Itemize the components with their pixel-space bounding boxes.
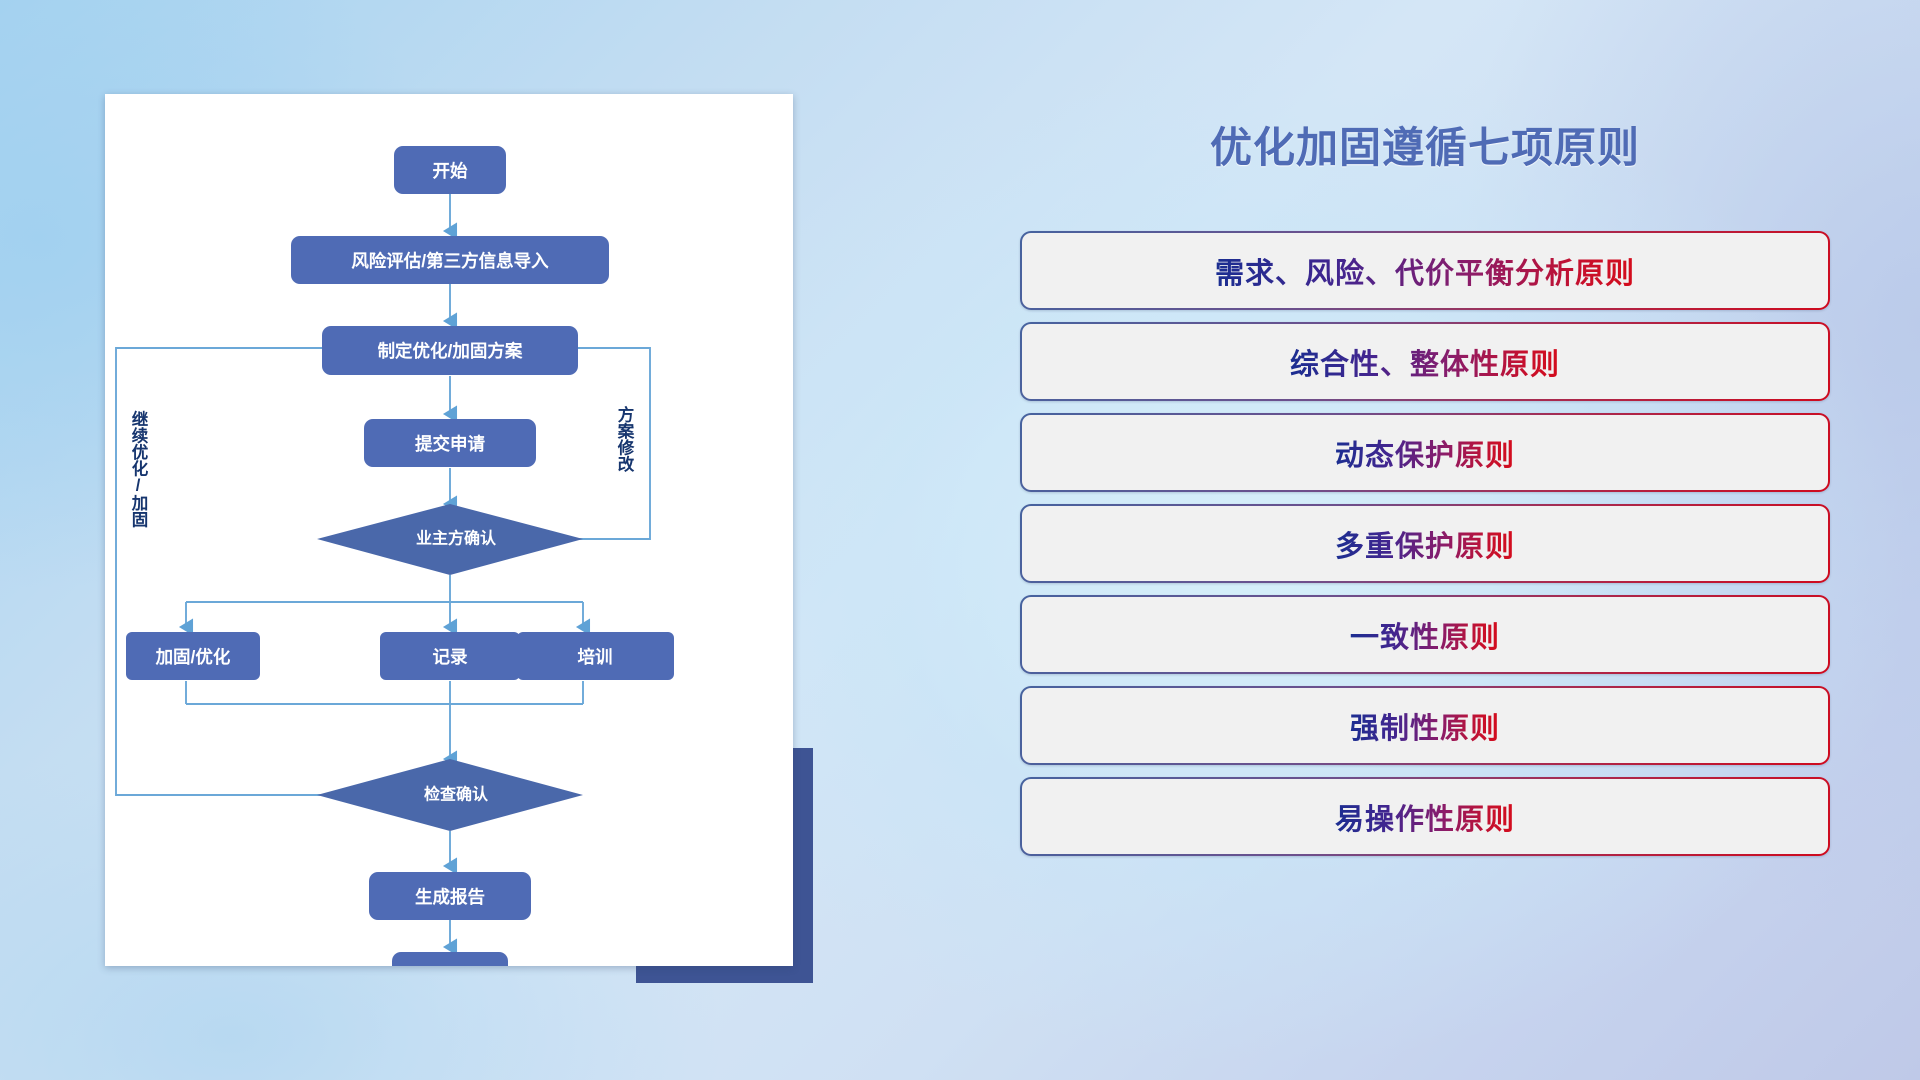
principle-item-4-label: 多重保护原则 [1335, 523, 1515, 565]
edge-check-plan-continue [116, 348, 373, 795]
principles-list: 需求、风险、代价平衡分析原则 综合性、整体性原则 动态保护原则 多重保护原则 [1020, 231, 1830, 856]
principle-item-5-inner: 一致性原则 [1022, 597, 1828, 672]
node-train-label: 培训 [578, 647, 613, 667]
node-submit-label: 提交申请 [415, 434, 485, 454]
node-report-label: 生成报告 [415, 887, 485, 907]
principle-item-7-inner: 易操作性原则 [1022, 779, 1828, 854]
node-check-confirm[interactable]: 检查确认 [317, 759, 583, 831]
node-risk-label: 风险评估/第三方信息导入 [351, 251, 549, 271]
principle-item-1[interactable]: 需求、风险、代价平衡分析原则 [1020, 231, 1830, 310]
principle-item-2[interactable]: 综合性、整体性原则 [1020, 322, 1830, 401]
node-plan-label: 制定优化/加固方案 [378, 341, 523, 361]
principle-item-2-inner: 综合性、整体性原则 [1022, 324, 1828, 399]
principle-item-2-label: 综合性、整体性原则 [1290, 341, 1560, 383]
principle-item-7[interactable]: 易操作性原则 [1020, 777, 1830, 856]
principle-item-1-label: 需求、风险、代价平衡分析原则 [1215, 250, 1635, 292]
node-owner-confirm[interactable]: 业主方确认 [317, 504, 583, 575]
principle-item-4-inner: 多重保护原则 [1022, 506, 1828, 581]
flowchart-diagram: 开始 风险评估/第三方信息导入 制定优化/加固方案 提交申请 业主方确认 加固/ [105, 94, 793, 966]
principle-item-7-label: 易操作性原则 [1335, 796, 1515, 838]
principle-item-5[interactable]: 一致性原则 [1020, 595, 1830, 674]
principles-pane: 优化加固遵循七项原则 需求、风险、代价平衡分析原则 综合性、整体性原则 动态保护… [1020, 94, 1830, 994]
principle-item-6-label: 强制性原则 [1350, 705, 1500, 747]
node-reinforce-label: 加固/优化 [155, 647, 231, 667]
principle-item-3-label: 动态保护原则 [1335, 432, 1515, 474]
principle-item-6-inner: 强制性原则 [1022, 688, 1828, 763]
flowchart-card: 开始 风险评估/第三方信息导入 制定优化/加固方案 提交申请 业主方确认 加固/ [105, 94, 793, 966]
node-reinforce[interactable]: 加固/优化 [126, 632, 260, 680]
node-plan[interactable]: 制定优化/加固方案 [322, 326, 578, 375]
edge-label-continue: 继续优化/加固 [129, 409, 149, 529]
node-end[interactable]: 结束 [392, 952, 508, 966]
node-start-label: 开始 [433, 161, 468, 181]
node-report[interactable]: 生成报告 [369, 872, 531, 920]
edge-label-revise: 方案修改 [615, 405, 635, 474]
node-submit[interactable]: 提交申请 [364, 419, 536, 467]
slide-canvas: 开始 风险评估/第三方信息导入 制定优化/加固方案 提交申请 业主方确认 加固/ [0, 0, 1920, 1080]
principle-item-5-label: 一致性原则 [1350, 614, 1500, 656]
node-record-label: 记录 [433, 647, 468, 667]
node-risk-assessment[interactable]: 风险评估/第三方信息导入 [291, 236, 609, 284]
principle-item-3[interactable]: 动态保护原则 [1020, 413, 1830, 492]
principle-item-1-inner: 需求、风险、代价平衡分析原则 [1022, 233, 1828, 308]
principles-title: 优化加固遵循七项原则 [1020, 114, 1830, 175]
node-owner-label: 业主方确认 [416, 529, 497, 548]
node-record[interactable]: 记录 [380, 632, 520, 680]
principle-item-3-inner: 动态保护原则 [1022, 415, 1828, 490]
node-check-label: 检查确认 [424, 785, 489, 804]
node-train[interactable]: 培训 [517, 632, 674, 680]
node-start[interactable]: 开始 [394, 146, 506, 194]
principle-item-4[interactable]: 多重保护原则 [1020, 504, 1830, 583]
principle-item-6[interactable]: 强制性原则 [1020, 686, 1830, 765]
